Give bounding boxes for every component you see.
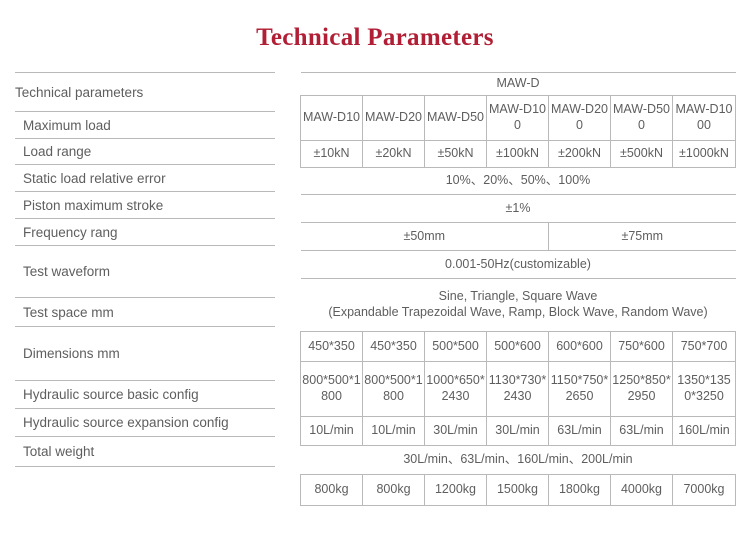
table-row-group-header: MAW-D (301, 73, 736, 96)
cell-hydraulic-expansion: 30L/min、63L/min、160L/min、200L/min (301, 446, 736, 475)
label-text: Dimensions mm (23, 346, 120, 361)
table-row-piston-maximum-stroke: ±50mm ±75mm (301, 223, 736, 251)
label-text: Load range (23, 144, 91, 159)
cell-maximum-load: ±100kN (487, 141, 549, 168)
cell-test-waveform: Sine, Triangle, Square Wave (Expandable … (301, 279, 736, 332)
label-total-weight: Total weight (15, 437, 275, 467)
technical-parameters-page: Technical Parameters Technical parameter… (0, 0, 750, 554)
table-row-hydraulic-expansion: 30L/min、63L/min、160L/min、200L/min (301, 446, 736, 475)
cell-load-range: 10%、20%、50%、100% (301, 168, 736, 195)
label-hydraulic-source-basic-config: Hydraulic source basic config (15, 381, 275, 409)
label-static-load-relative-error: Static load relative error (15, 165, 275, 192)
cell-hydraulic-basic: 10L/min (363, 417, 425, 446)
waveform-line-1: Sine, Triangle, Square Wave (302, 289, 735, 305)
label-text: Hydraulic source expansion config (23, 415, 229, 430)
specs-table-wrapper: MAW-D MAW-D10 MAW-D20 MAW-D50 MAW-D100 M… (300, 72, 735, 506)
cell-model: MAW-D500 (611, 96, 673, 141)
label-test-space: Test space mm (15, 298, 275, 327)
specs-table: MAW-D MAW-D10 MAW-D20 MAW-D50 MAW-D100 M… (300, 72, 736, 506)
cell-group-header: MAW-D (301, 73, 736, 96)
cell-test-space: 500*500 (425, 332, 487, 362)
cell-dimensions: 800*500*1800 (363, 362, 425, 417)
label-text: Maximum load (23, 118, 111, 133)
cell-hydraulic-basic: 63L/min (611, 417, 673, 446)
cell-maximum-load: ±10kN (301, 141, 363, 168)
cell-model: MAW-D20 (363, 96, 425, 141)
table-row-test-space: 450*350 450*350 500*500 500*600 600*600 … (301, 332, 736, 362)
label-text: Test space mm (23, 305, 114, 320)
cell-model: MAW-D50 (425, 96, 487, 141)
cell-test-space: 450*350 (301, 332, 363, 362)
cell-hydraulic-basic: 30L/min (487, 417, 549, 446)
cell-maximum-load: ±1000kN (673, 141, 736, 168)
cell-piston-stroke: ±75mm (549, 223, 736, 251)
label-text: Static load relative error (23, 171, 166, 186)
table-row-hydraulic-basic: 10L/min 10L/min 30L/min 30L/min 63L/min … (301, 417, 736, 446)
cell-dimensions: 1130*730*2430 (487, 362, 549, 417)
table-row-dimensions: 800*500*1800 800*500*1800 1000*650*2430 … (301, 362, 736, 417)
page-title: Technical Parameters (0, 24, 750, 52)
cell-test-space: 600*600 (549, 332, 611, 362)
waveform-line-2: (Expandable Trapezoidal Wave, Ramp, Bloc… (302, 305, 735, 321)
cell-total-weight: 1200kg (425, 475, 487, 506)
table-row-maximum-load: ±10kN ±20kN ±50kN ±100kN ±200kN ±500kN ±… (301, 141, 736, 168)
cell-model: MAW-D100 (487, 96, 549, 141)
cell-test-space: 750*600 (611, 332, 673, 362)
cell-total-weight: 1800kg (549, 475, 611, 506)
cell-hydraulic-basic: 160L/min (673, 417, 736, 446)
cell-piston-stroke: ±50mm (301, 223, 549, 251)
cell-hydraulic-basic: 63L/min (549, 417, 611, 446)
table-row-models: MAW-D10 MAW-D20 MAW-D50 MAW-D100 MAW-D20… (301, 96, 736, 141)
left-header-label: Technical parameters (15, 85, 143, 100)
label-test-waveform: Test waveform (15, 246, 275, 298)
table-row-load-range: 10%、20%、50%、100% (301, 168, 736, 195)
cell-frequency-rang: 0.001-50Hz(customizable) (301, 251, 736, 279)
cell-hydraulic-basic: 10L/min (301, 417, 363, 446)
cell-total-weight: 4000kg (611, 475, 673, 506)
cell-maximum-load: ±20kN (363, 141, 425, 168)
cell-total-weight: 800kg (363, 475, 425, 506)
label-dimensions: Dimensions mm (15, 327, 275, 381)
cell-dimensions: 1000*650*2430 (425, 362, 487, 417)
cell-model: MAW-D200 (549, 96, 611, 141)
cell-maximum-load: ±200kN (549, 141, 611, 168)
cell-dimensions: 800*500*1800 (301, 362, 363, 417)
left-header-cell: Technical parameters (15, 72, 275, 112)
cell-dimensions: 1350*1350*3250 (673, 362, 736, 417)
cell-maximum-load: ±50kN (425, 141, 487, 168)
label-text: Piston maximum stroke (23, 198, 163, 213)
table-row-static-load-relative-error: ±1% (301, 195, 736, 223)
label-text: Total weight (23, 444, 94, 459)
cell-test-space: 450*350 (363, 332, 425, 362)
table-row-frequency-rang: 0.001-50Hz(customizable) (301, 251, 736, 279)
label-piston-maximum-stroke: Piston maximum stroke (15, 192, 275, 219)
table-row-total-weight: 800kg 800kg 1200kg 1500kg 1800kg 4000kg … (301, 475, 736, 506)
cell-dimensions: 1150*750*2650 (549, 362, 611, 417)
cell-model: MAW-D10 (301, 96, 363, 141)
cell-maximum-load: ±500kN (611, 141, 673, 168)
label-text: Frequency rang (23, 225, 118, 240)
label-frequency-rang: Frequency rang (15, 219, 275, 246)
cell-total-weight: 800kg (301, 475, 363, 506)
cell-test-space: 500*600 (487, 332, 549, 362)
cell-dimensions: 1250*850*2950 (611, 362, 673, 417)
cell-hydraulic-basic: 30L/min (425, 417, 487, 446)
cell-total-weight: 7000kg (673, 475, 736, 506)
left-label-column: Technical parameters Maximum load Load r… (15, 72, 275, 467)
label-text: Test waveform (23, 264, 110, 279)
cell-total-weight: 1500kg (487, 475, 549, 506)
table-row-test-waveform: Sine, Triangle, Square Wave (Expandable … (301, 279, 736, 332)
cell-test-space: 750*700 (673, 332, 736, 362)
cell-static-load-relative-error: ±1% (301, 195, 736, 223)
label-text: Hydraulic source basic config (23, 387, 199, 402)
label-hydraulic-source-expansion-config: Hydraulic source expansion config (15, 409, 275, 437)
label-maximum-load: Maximum load (15, 112, 275, 139)
label-load-range: Load range (15, 139, 275, 165)
cell-model: MAW-D1000 (673, 96, 736, 141)
